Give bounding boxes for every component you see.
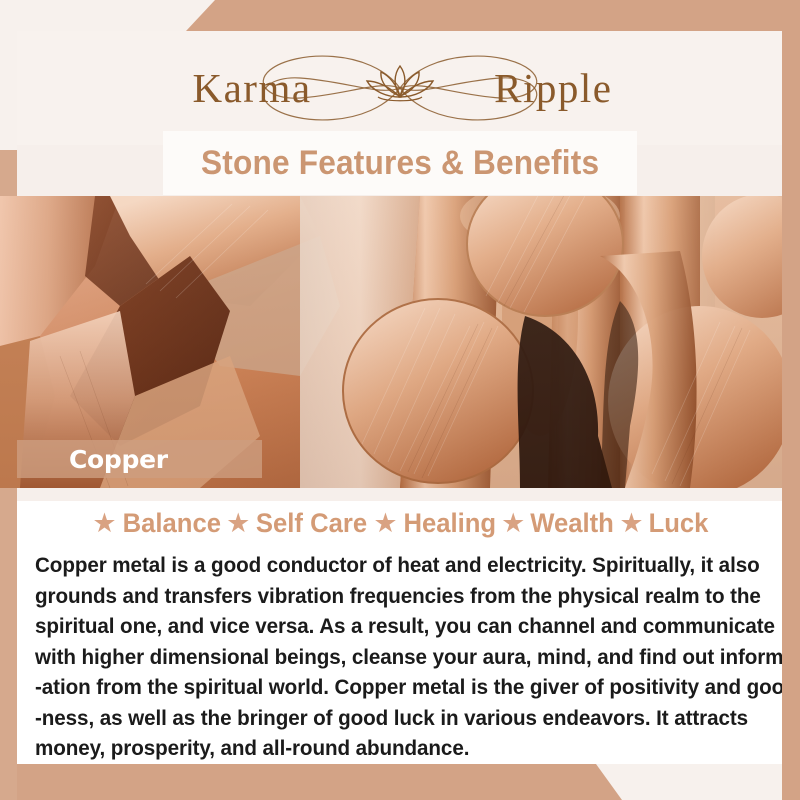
feature-luck: Luck	[648, 508, 708, 539]
description-line: grounds and transfers vibration frequenc…	[35, 581, 736, 612]
feature-self-care: Self Care	[256, 508, 367, 539]
brand-header: Karma Ripple	[17, 31, 782, 145]
infographic-page: Karma Ripple Stone Features & Benefits	[0, 0, 800, 800]
logo-text-left: Karma	[193, 64, 312, 112]
description-text: Copper metal is a good conductor of heat…	[35, 550, 736, 764]
logo-text-right: Ripple	[494, 64, 612, 112]
stone-name: Copper	[69, 445, 168, 474]
right-accent-border	[782, 0, 800, 800]
star-icon-1: ★	[92, 510, 116, 537]
features-row: ★ Balance ★ Self Care ★ Healing ★ Wealth…	[17, 508, 782, 539]
page-title: Stone Features & Benefits	[201, 144, 599, 183]
photo-caption-badge: Copper	[17, 440, 262, 478]
description-line: Copper metal is a good conductor of heat…	[35, 550, 736, 581]
star-icon-2: ★	[226, 510, 250, 537]
star-icon-4: ★	[501, 510, 525, 537]
description-line: money, prosperity, and all-round abundan…	[35, 733, 736, 764]
lotus-icon	[367, 66, 433, 101]
description-line: -ation from the spiritual world. Copper …	[35, 672, 736, 703]
content-panel: ★ Balance ★ Self Care ★ Healing ★ Wealth…	[17, 488, 782, 764]
star-icon-5: ★	[619, 510, 643, 537]
feature-balance: Balance	[122, 508, 220, 539]
top-accent-bar	[0, 0, 800, 31]
description-line: -ness, as well as the bringer of good lu…	[35, 703, 736, 734]
feature-wealth: Wealth	[531, 508, 615, 539]
title-banner: Stone Features & Benefits	[163, 131, 637, 195]
content-top-fade	[17, 488, 782, 501]
brand-logo: Karma Ripple	[175, 40, 625, 136]
copper-bars-photo: Copper	[0, 196, 782, 488]
description-line: with higher dimensional beings, cleanse …	[35, 642, 736, 673]
description-line: spiritual one, and vice versa. As a resu…	[35, 611, 736, 642]
feature-healing: Healing	[403, 508, 496, 539]
star-icon-3: ★	[373, 510, 397, 537]
bottom-accent-bar	[0, 764, 800, 800]
